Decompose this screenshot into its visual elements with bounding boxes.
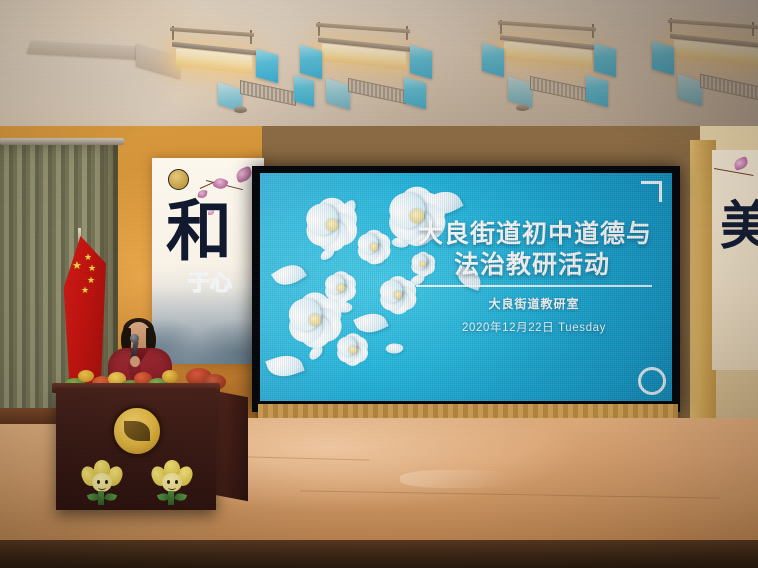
slide-leaf-icon xyxy=(271,259,307,292)
slide-flower-icon xyxy=(356,229,392,265)
calligraphy-main-right: 美 xyxy=(720,202,758,252)
ceiling xyxy=(0,0,758,132)
slide-leaf-icon xyxy=(265,350,304,382)
slide-petal-icon xyxy=(385,341,404,356)
microphone-head xyxy=(130,334,139,343)
slide-flower-icon xyxy=(336,333,370,367)
slide-flower-icon xyxy=(304,197,360,253)
lectern-side xyxy=(214,391,248,502)
conference-hall-photo: 和 于心 美 大良街道初中道德与 法治教研活动 大良街道教研室 2020年12月… xyxy=(0,0,758,568)
round-seal-icon xyxy=(168,169,189,190)
slide-title: 大良街道初中道德与 法治教研活动 xyxy=(416,219,652,281)
lectern xyxy=(56,388,216,510)
led-presentation-screen[interactable]: 大良街道初中道德与 法治教研活动 大良街道教研室 2020年12月22日 Tue… xyxy=(260,173,672,401)
stage-front-edge xyxy=(0,540,758,568)
corner-bracket-icon xyxy=(641,181,662,202)
magnolia-flower-icon xyxy=(212,176,229,192)
flag-star: ★ xyxy=(87,276,95,285)
curtain-rail xyxy=(0,138,124,145)
magnolia-flower-icon xyxy=(234,166,253,184)
flag-star: ★ xyxy=(84,253,92,262)
corner-circle-icon xyxy=(638,367,666,395)
calligraphy-sub: 于心 xyxy=(186,270,234,296)
floor-scuff xyxy=(400,470,510,488)
slide-title-line2: 法治教研活动 xyxy=(416,250,652,281)
slide-flower-icon xyxy=(378,275,418,315)
magnolia-flower-icon xyxy=(733,156,750,171)
calligraphy-main: 和 xyxy=(166,196,240,270)
flag-star: ★ xyxy=(81,286,89,295)
slide-subtitle: 大良街道教研室 xyxy=(416,295,652,312)
crest-mark xyxy=(124,421,150,441)
flag-star: ★ xyxy=(72,262,82,271)
flower-mascot-left xyxy=(82,460,122,506)
school-crest-icon xyxy=(112,406,162,456)
branch xyxy=(714,168,754,176)
slide-date: 2020年12月22日 Tuesday xyxy=(416,319,652,335)
flower-mascot-right xyxy=(152,460,192,506)
flag-star: ★ xyxy=(88,264,96,273)
wall-art-right: 美 xyxy=(712,150,758,370)
title-underline xyxy=(416,285,652,287)
slide-title-line1: 大良街道初中道德与 xyxy=(418,220,652,248)
